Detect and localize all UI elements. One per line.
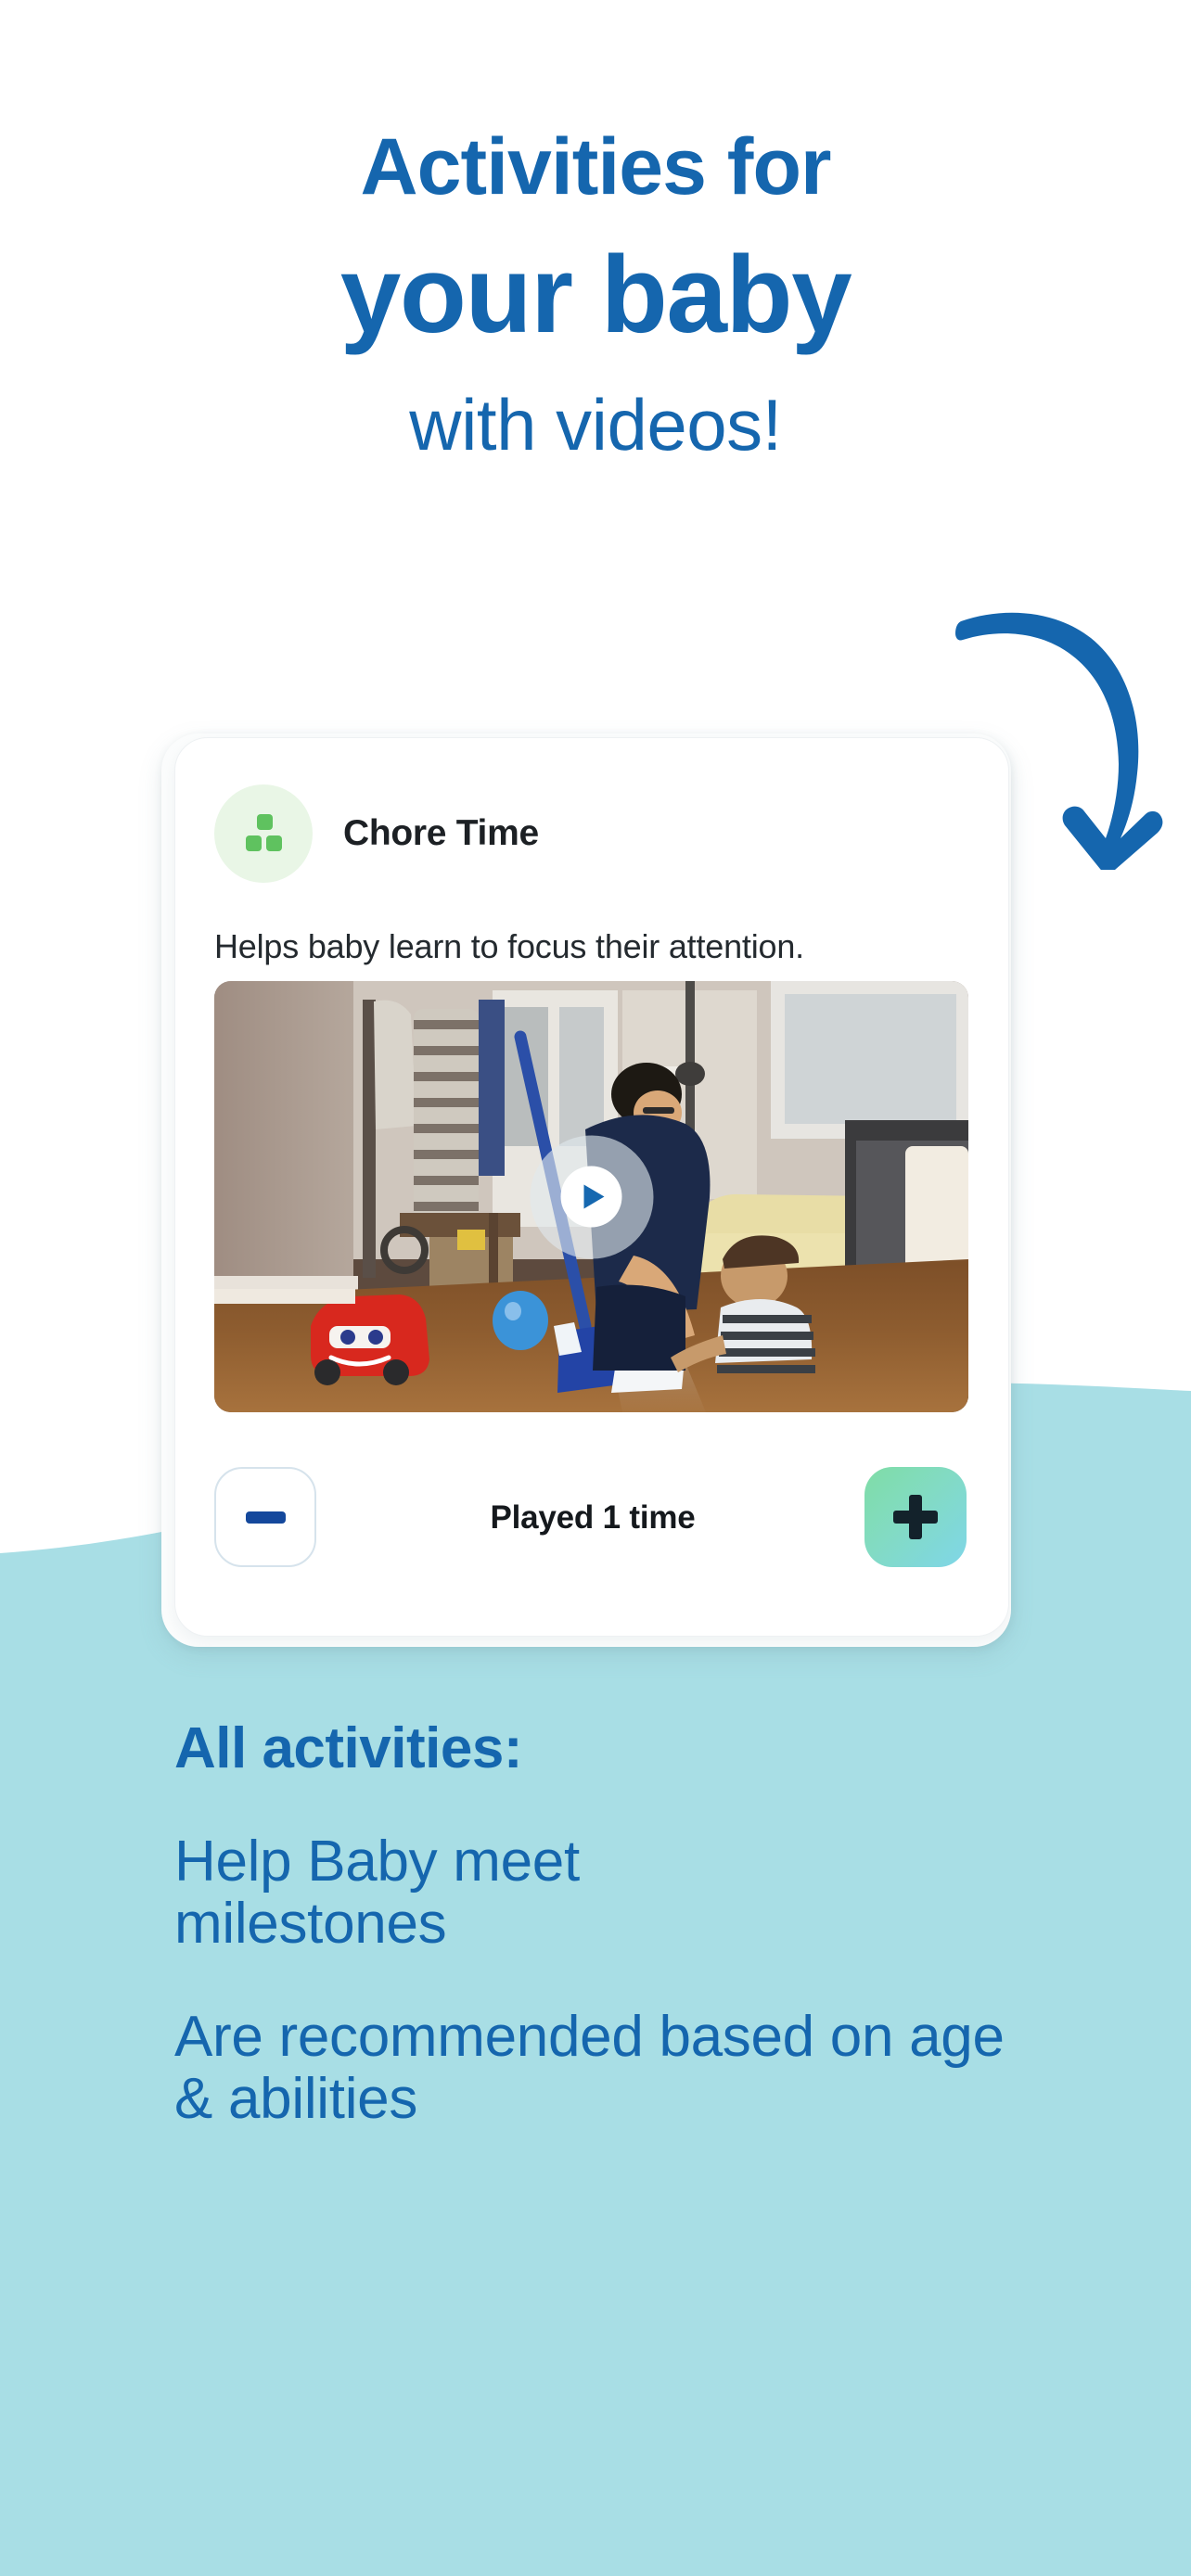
activity-description: Helps baby learn to focus their attentio…	[214, 927, 975, 966]
play-counter-row: Played 1 time	[175, 1460, 1009, 1575]
headline-line-3: with videos!	[0, 389, 1191, 461]
plus-icon	[893, 1495, 938, 1539]
activity-benefit-2: Are recommended based on age & abilities	[174, 2007, 1046, 2131]
activity-blocks-icon	[214, 784, 313, 883]
increment-play-count-button[interactable]	[864, 1467, 967, 1567]
all-activities-section: All activities: Help Baby meet milestone…	[174, 1720, 1102, 2131]
page-headline: Activities for your baby with videos!	[0, 0, 1191, 461]
activity-card[interactable]: Chore Time Helps baby learn to focus the…	[174, 737, 1009, 1637]
play-icon-inner	[561, 1167, 622, 1228]
activity-title: Chore Time	[343, 813, 539, 854]
play-triangle	[584, 1185, 605, 1209]
headline-line-2: your baby	[0, 240, 1191, 350]
play-icon[interactable]	[530, 1135, 653, 1258]
video-thumbnail[interactable]	[214, 981, 968, 1412]
all-activities-heading: All activities:	[174, 1720, 1102, 1778]
activity-card-header: Chore Time	[214, 784, 539, 883]
activity-benefit-1: Help Baby meet milestones	[174, 1831, 824, 1956]
headline-line-1: Activities for	[0, 127, 1191, 207]
